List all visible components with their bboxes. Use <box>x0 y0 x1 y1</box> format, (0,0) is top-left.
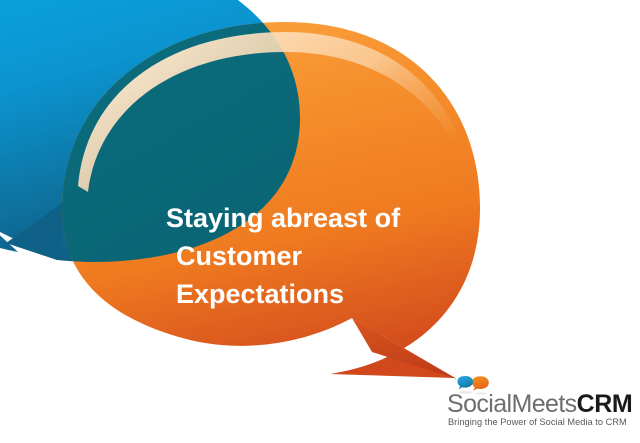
logo-tagline: Bringing the Power of Social Media to CR… <box>448 417 627 427</box>
logo-word-bold: CRM <box>577 390 633 418</box>
logo-word-light: SocialMeets <box>447 390 577 418</box>
title-line-3: Expectations <box>0 275 420 313</box>
logo-wordmark: SocialMeetsCRM <box>447 391 632 417</box>
logo: SocialMeetsCRM Bringing the Power of Soc… <box>447 376 607 426</box>
slide-canvas: Staying abreast of Customer Expectations <box>0 0 640 443</box>
title-line-1: Staying abreast of <box>0 199 420 237</box>
title-line-2: Customer <box>0 237 420 275</box>
page-title: Staying abreast of Customer Expectations <box>0 199 420 313</box>
